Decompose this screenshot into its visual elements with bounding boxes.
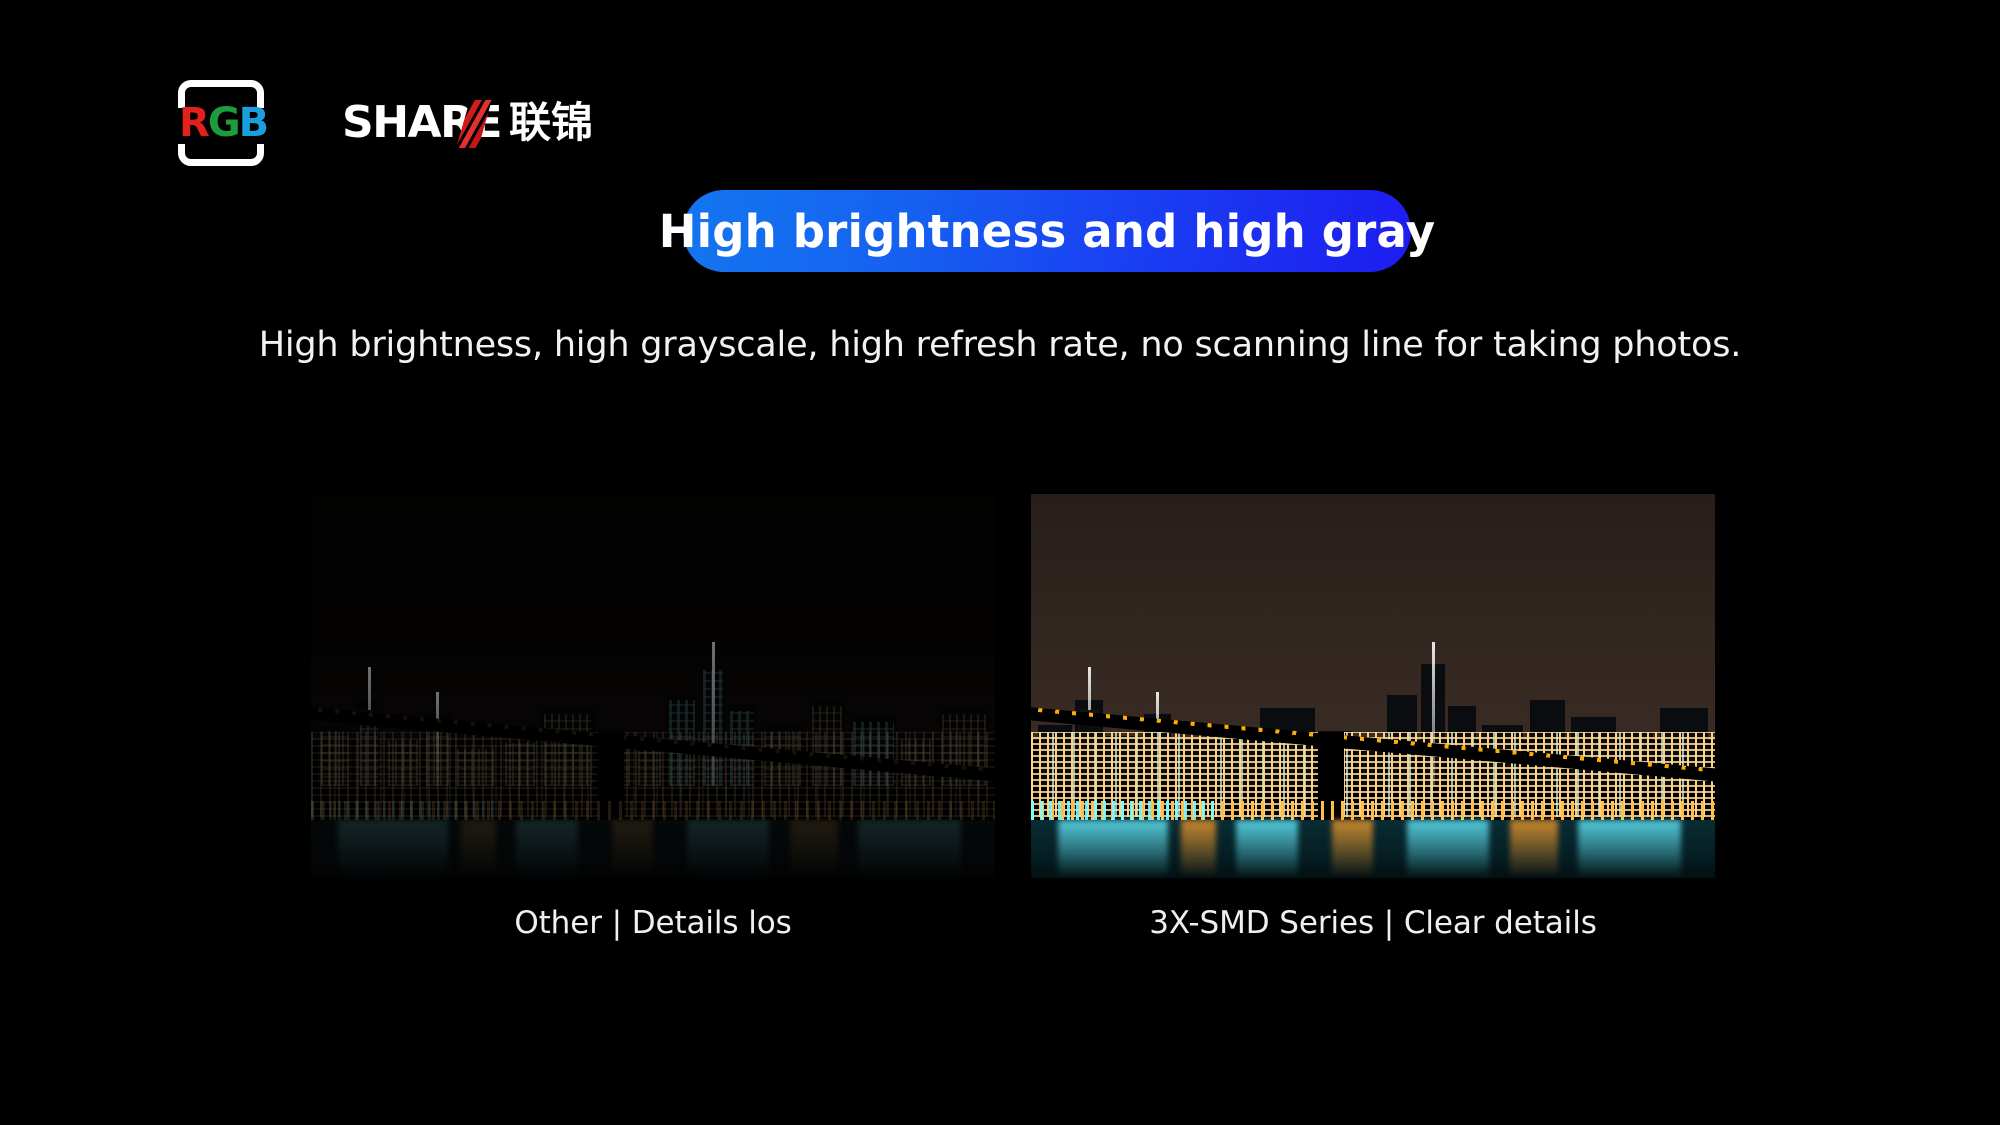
waterfront-lights xyxy=(1031,801,1715,820)
page-title: High brightness and high gray xyxy=(659,205,1436,258)
waterfront-cyan-lights xyxy=(1031,801,1216,820)
logo-letter-b: B xyxy=(239,100,268,146)
waterfront-cyan-lights xyxy=(311,801,496,820)
title-banner: High brightness and high gray xyxy=(683,190,1411,272)
caption-right: 3X-SMD Series | Clear details xyxy=(1031,905,1715,941)
logo-rgb-letters: RGB xyxy=(179,102,339,144)
logo-letter-g: G xyxy=(208,100,239,146)
logo-wordmark: SHARE xyxy=(342,80,501,166)
subtitle-text: High brightness, high grayscale, high re… xyxy=(0,325,2000,365)
comparison-image-right xyxy=(1031,494,1715,878)
logo-chinese-name: 联锦 xyxy=(509,80,593,166)
logo-wordmark-tail: ARE xyxy=(408,97,502,148)
comparison-panels xyxy=(0,494,2000,894)
waterfront-lights xyxy=(311,801,995,820)
river-water xyxy=(1031,820,1715,878)
cityscape-scene-dim xyxy=(311,494,995,878)
cityscape-photo-bright xyxy=(1031,494,1715,878)
cityscape-photo-dim xyxy=(311,494,995,878)
slide-root: RGB SHARE 联锦 High brightness and high gr… xyxy=(0,0,2000,1125)
caption-left: Other | Details los xyxy=(311,905,995,941)
comparison-image-left xyxy=(311,494,995,878)
logo-mark: RGB xyxy=(178,80,264,166)
logo-wordmark-head: SH xyxy=(342,97,408,148)
cityscape-scene-bright xyxy=(1031,494,1715,878)
brand-logo[interactable]: RGB SHARE 联锦 xyxy=(178,80,593,166)
logo-letter-r: R xyxy=(179,100,208,146)
river-water xyxy=(311,820,995,878)
